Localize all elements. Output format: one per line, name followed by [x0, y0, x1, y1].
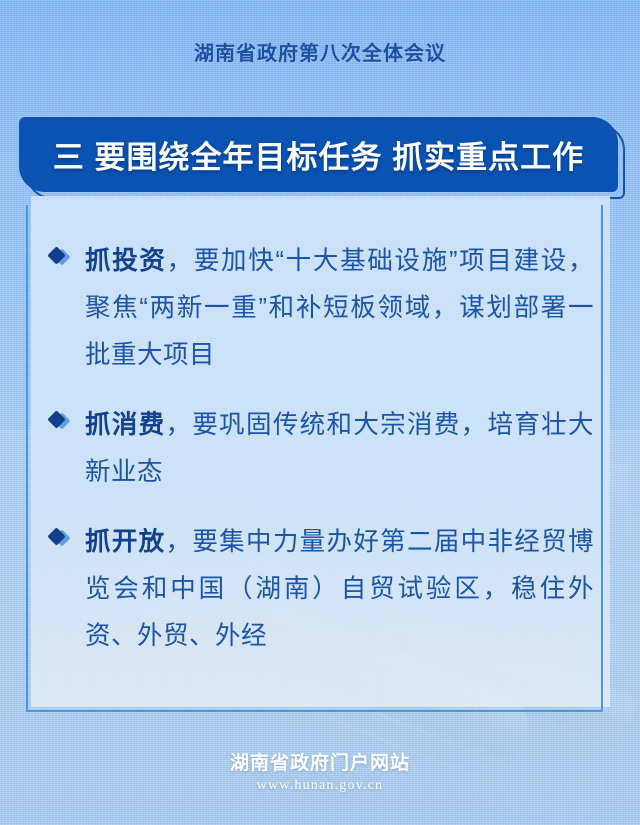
list-item: 抓开放，要集中力量办好第二届中非经贸博览会和中国（湖南）自贸试验区，稳住外资、外…	[49, 519, 594, 660]
list-item-lead: 抓开放	[85, 528, 166, 556]
double-diamond-bullet-icon	[49, 529, 71, 547]
list-item-text: 抓消费，要巩固传统和大宗消费，培育壮大新业态	[85, 402, 594, 496]
section-title-banner: 三 要围绕全年目标任务 抓实重点工作	[19, 117, 619, 195]
footer-url: www.hunan.gov.cn	[0, 778, 640, 794]
double-diamond-bullet-icon	[49, 412, 71, 430]
list-item: 抓投资，要加快“十大基础设施”项目建设，聚焦“两新一重”和补短板领域，谋划部署一…	[49, 238, 594, 379]
list-item-text: 抓开放，要集中力量办好第二届中非经贸博览会和中国（湖南）自贸试验区，稳住外资、外…	[85, 519, 594, 660]
page-header-title: 湖南省政府第八次全体会议	[0, 37, 640, 66]
banner-fill: 三 要围绕全年目标任务 抓实重点工作	[19, 117, 618, 192]
poster-canvas: 湖南省政府第八次全体会议 三 要围绕全年目标任务 抓实重点工作 抓投资，要加快“…	[0, 0, 640, 825]
footer-site-name: 湖南省政府门户网站	[0, 748, 640, 775]
list-item-text: 抓投资，要加快“十大基础设施”项目建设，聚焦“两新一重”和补短板领域，谋划部署一…	[85, 238, 594, 379]
list-item-lead: 抓投资	[85, 247, 167, 275]
content-card: 抓投资，要加快“十大基础设施”项目建设，聚焦“两新一重”和补短板领域，谋划部署一…	[31, 196, 610, 707]
footer: 湖南省政府门户网站 www.hunan.gov.cn	[0, 748, 640, 794]
list-item: 抓消费，要巩固传统和大宗消费，培育壮大新业态	[49, 402, 594, 496]
double-diamond-bullet-icon	[49, 248, 71, 266]
list-item-lead: 抓消费	[85, 411, 166, 439]
banner-title-text: 三 要围绕全年目标任务 抓实重点工作	[53, 132, 584, 177]
bullet-list: 抓投资，要加快“十大基础设施”项目建设，聚焦“两新一重”和补短板领域，谋划部署一…	[49, 238, 594, 660]
